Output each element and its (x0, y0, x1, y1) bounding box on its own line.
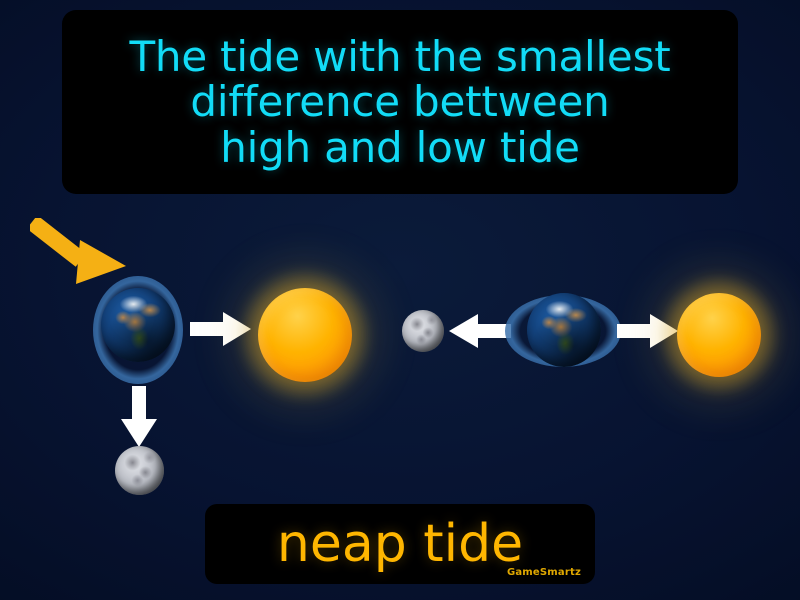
definition-line-3: high and low tide (129, 125, 670, 170)
sun-disc (677, 293, 761, 377)
definition-line-2: difference bettween (129, 79, 670, 124)
definition-line-1: The tide with the smallest (129, 34, 670, 79)
earth-left (88, 278, 188, 382)
moon-right (400, 308, 448, 356)
moon-left (112, 443, 168, 499)
definition-box: The tide with the smallest difference be… (62, 10, 738, 194)
definition-card: The tide with the smallest difference be… (0, 0, 800, 600)
earth-globe (101, 288, 175, 362)
definition-text: The tide with the smallest difference be… (115, 34, 684, 170)
moon-disc (115, 446, 164, 495)
earth-globe (527, 293, 601, 367)
earth-right (505, 282, 621, 380)
term-box: neap tide GameSmartz (205, 504, 595, 584)
watermark-label: GameSmartz (507, 567, 581, 578)
sun-disc (258, 288, 352, 382)
tide-diagram (0, 200, 800, 500)
sun-right (660, 276, 778, 394)
earth-to-moon-arrow-left-icon (445, 312, 511, 350)
earth-to-moon-arrow-down-icon (119, 386, 159, 448)
moon-disc (402, 310, 444, 352)
sun-left (240, 270, 370, 400)
